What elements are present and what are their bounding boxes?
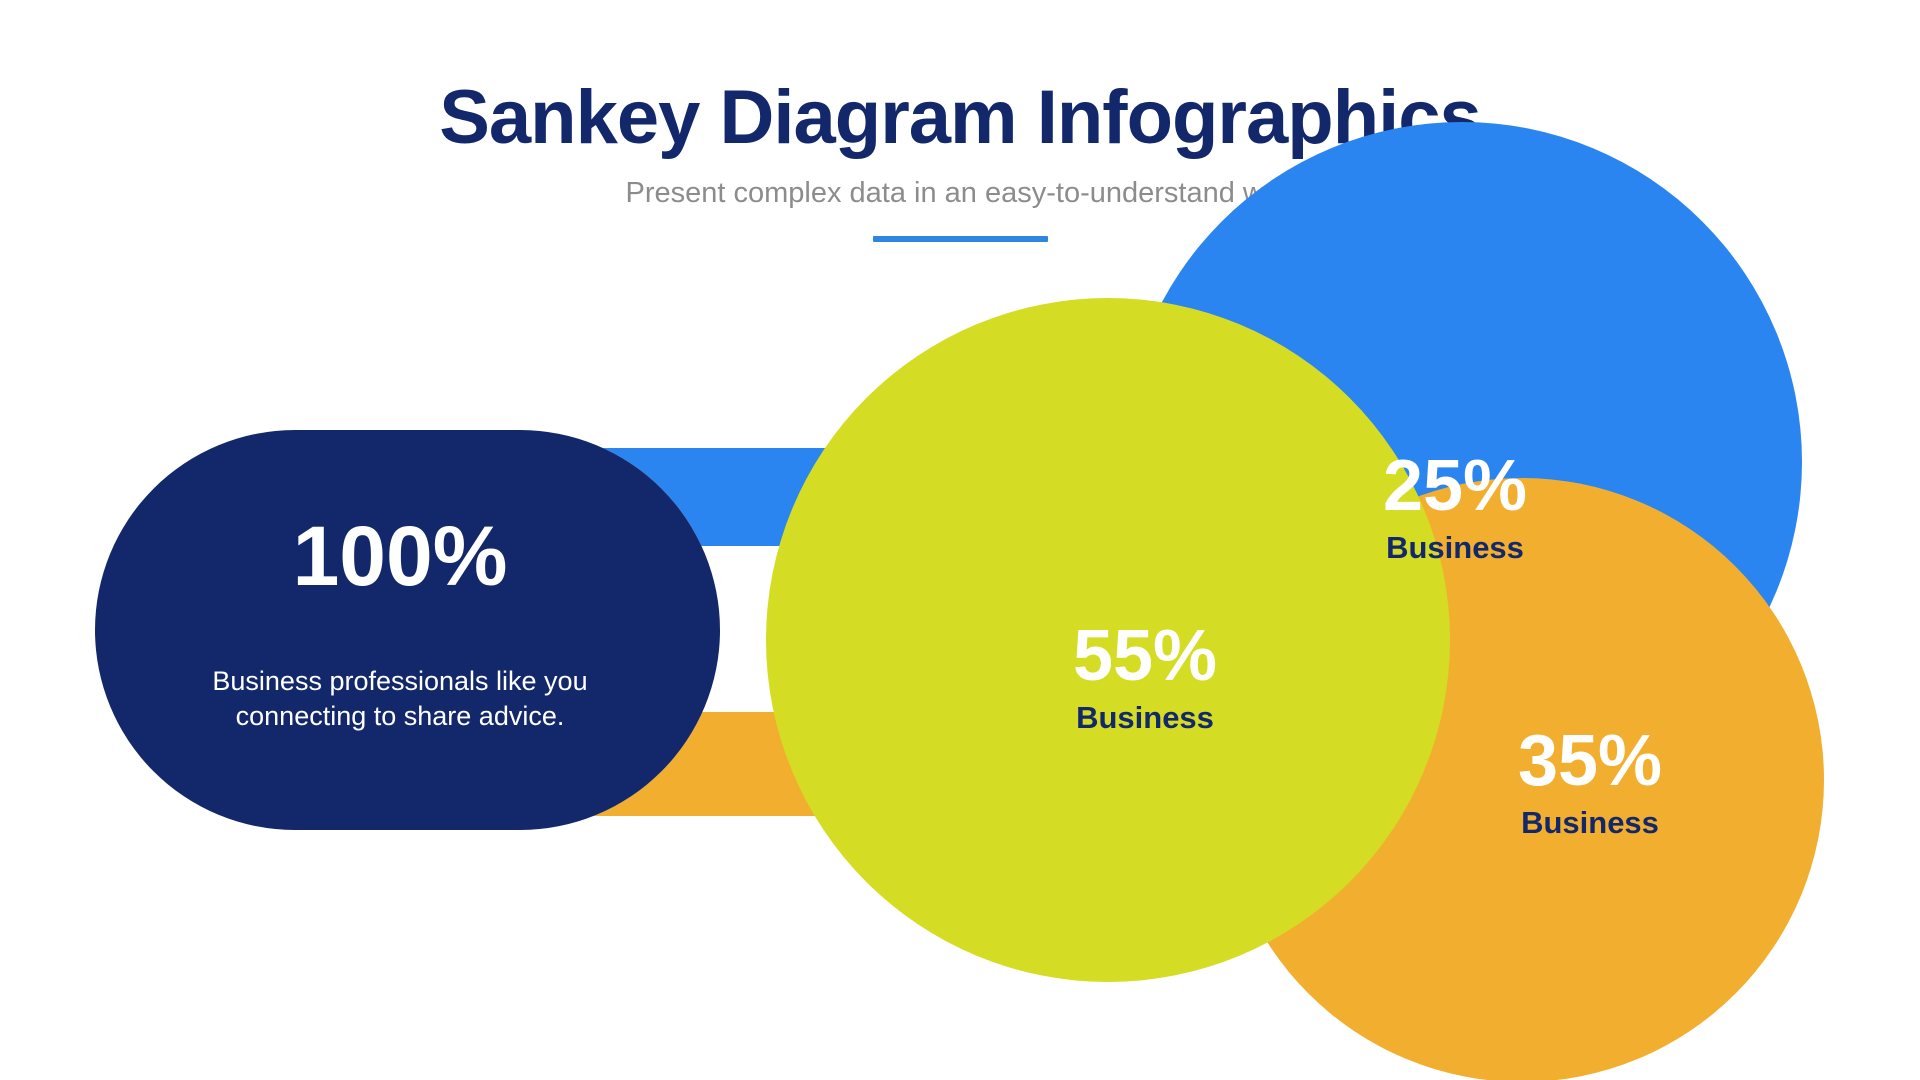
- node-label-text-blue: Business: [1386, 530, 1524, 565]
- infographic-slide: Sankey Diagram Infographics Present comp…: [0, 0, 1920, 1080]
- node-label-text-orange: Business: [1521, 805, 1659, 840]
- source-description-line1: Business professionals like you: [212, 666, 587, 696]
- source-value: 100%: [293, 509, 508, 603]
- source-description-line2: connecting to share advice.: [236, 701, 565, 731]
- source-node[interactable]: 100% Business professionals like you con…: [95, 430, 720, 830]
- node-label-blue: 25% Business: [1383, 446, 1527, 565]
- sankey-diagram: 100% Business professionals like you con…: [0, 0, 1920, 1080]
- node-label-green: 55% Business: [1073, 616, 1217, 735]
- node-value-green: 55%: [1073, 616, 1217, 696]
- node-value-orange: 35%: [1518, 721, 1662, 801]
- node-label-text-green: Business: [1076, 700, 1214, 735]
- node-value-blue: 25%: [1383, 446, 1527, 526]
- node-label-orange: 35% Business: [1518, 721, 1662, 840]
